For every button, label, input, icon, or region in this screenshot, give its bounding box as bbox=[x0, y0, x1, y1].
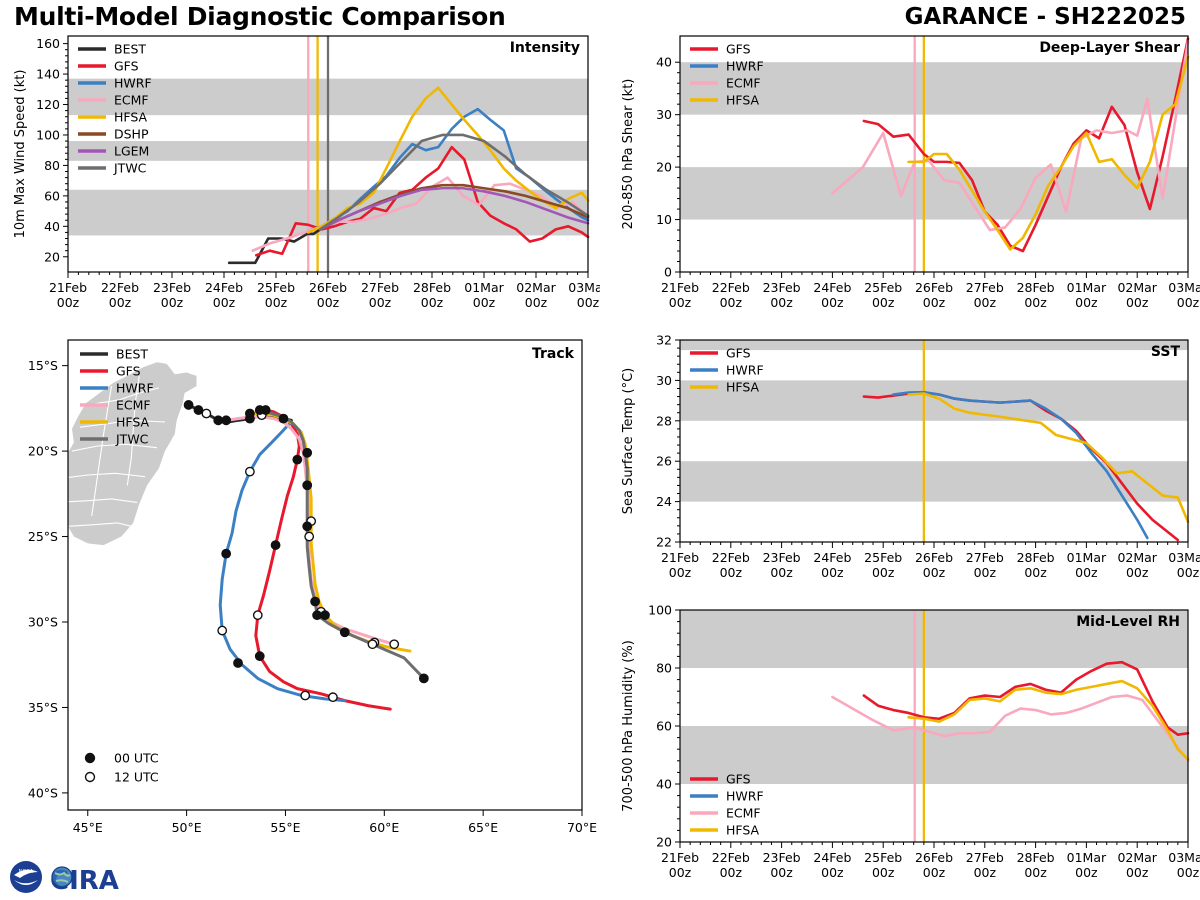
svg-text:00z: 00z bbox=[1024, 865, 1047, 880]
svg-text:24: 24 bbox=[656, 494, 672, 509]
svg-text:00z: 00z bbox=[821, 565, 844, 580]
svg-text:00z: 00z bbox=[770, 565, 793, 580]
svg-text:25°S: 25°S bbox=[28, 529, 58, 544]
svg-text:30: 30 bbox=[656, 107, 672, 122]
svg-text:24Feb: 24Feb bbox=[813, 280, 851, 295]
svg-text:00z: 00z bbox=[669, 865, 692, 880]
svg-text:00z: 00z bbox=[720, 295, 743, 310]
svg-text:ECMF: ECMF bbox=[726, 806, 761, 821]
svg-text:00z: 00z bbox=[872, 865, 895, 880]
svg-text:Intensity: Intensity bbox=[510, 40, 580, 56]
svg-text:00z: 00z bbox=[109, 295, 132, 310]
svg-text:HFSA: HFSA bbox=[726, 380, 760, 395]
svg-text:700-500 hPa Humidity (%): 700-500 hPa Humidity (%) bbox=[621, 640, 636, 812]
svg-text:20: 20 bbox=[44, 249, 60, 264]
svg-text:160: 160 bbox=[36, 36, 60, 51]
svg-text:00z: 00z bbox=[974, 565, 997, 580]
svg-text:01Mar: 01Mar bbox=[1067, 550, 1107, 565]
svg-text:20: 20 bbox=[656, 160, 672, 175]
svg-text:02Mar: 02Mar bbox=[516, 280, 556, 295]
svg-text:00z: 00z bbox=[161, 295, 184, 310]
svg-text:22: 22 bbox=[656, 535, 672, 550]
svg-text:50°E: 50°E bbox=[172, 820, 202, 835]
svg-text:02Mar: 02Mar bbox=[1117, 550, 1157, 565]
svg-text:21Feb: 21Feb bbox=[49, 280, 87, 295]
panel-sst: 22242628303221Feb00z22Feb00z23Feb00z24Fe… bbox=[600, 330, 1200, 600]
svg-text:20: 20 bbox=[656, 835, 672, 850]
svg-text:26Feb: 26Feb bbox=[309, 280, 347, 295]
svg-text:00z: 00z bbox=[669, 565, 692, 580]
svg-text:00 UTC: 00 UTC bbox=[114, 751, 159, 766]
svg-text:22Feb: 22Feb bbox=[712, 280, 750, 295]
svg-text:Mid-Level RH: Mid-Level RH bbox=[1076, 614, 1180, 630]
svg-text:00z: 00z bbox=[720, 865, 743, 880]
svg-text:00z: 00z bbox=[1075, 865, 1098, 880]
svg-text:01Mar: 01Mar bbox=[1067, 850, 1107, 865]
svg-text:00z: 00z bbox=[770, 865, 793, 880]
svg-text:03Mar: 03Mar bbox=[1168, 550, 1200, 565]
svg-text:GFS: GFS bbox=[726, 346, 751, 361]
svg-text:03Mar: 03Mar bbox=[1168, 280, 1200, 295]
svg-text:JTWC: JTWC bbox=[113, 161, 147, 176]
svg-text:03Mar: 03Mar bbox=[1168, 850, 1200, 865]
svg-text:Sea Surface Temp (°C): Sea Surface Temp (°C) bbox=[621, 368, 636, 515]
svg-text:02Mar: 02Mar bbox=[1117, 850, 1157, 865]
svg-text:ECMF: ECMF bbox=[114, 93, 149, 108]
svg-text:00z: 00z bbox=[1177, 565, 1200, 580]
svg-text:00z: 00z bbox=[525, 295, 548, 310]
svg-text:120: 120 bbox=[36, 97, 60, 112]
svg-text:00z: 00z bbox=[923, 565, 946, 580]
svg-text:23Feb: 23Feb bbox=[763, 280, 801, 295]
svg-text:140: 140 bbox=[36, 67, 60, 82]
svg-text:JTWC: JTWC bbox=[115, 432, 149, 447]
svg-text:10: 10 bbox=[656, 212, 672, 227]
svg-text:24Feb: 24Feb bbox=[205, 280, 243, 295]
svg-text:00z: 00z bbox=[1075, 295, 1098, 310]
svg-text:HWRF: HWRF bbox=[116, 381, 154, 396]
svg-text:00z: 00z bbox=[1126, 295, 1149, 310]
svg-text:00z: 00z bbox=[473, 295, 496, 310]
svg-text:00z: 00z bbox=[872, 295, 895, 310]
svg-text:27Feb: 27Feb bbox=[966, 850, 1004, 865]
svg-text:00z: 00z bbox=[974, 295, 997, 310]
svg-text:SST: SST bbox=[1151, 344, 1181, 360]
svg-text:HWRF: HWRF bbox=[726, 363, 764, 378]
svg-text:26Feb: 26Feb bbox=[915, 280, 953, 295]
svg-text:DSHP: DSHP bbox=[114, 127, 149, 142]
svg-text:60°E: 60°E bbox=[369, 820, 399, 835]
svg-text:20°S: 20°S bbox=[28, 444, 58, 459]
svg-text:00z: 00z bbox=[421, 295, 444, 310]
svg-text:22Feb: 22Feb bbox=[101, 280, 139, 295]
svg-text:00z: 00z bbox=[1126, 865, 1149, 880]
svg-text:HFSA: HFSA bbox=[726, 823, 760, 838]
svg-text:27Feb: 27Feb bbox=[966, 550, 1004, 565]
svg-text:55°E: 55°E bbox=[270, 820, 300, 835]
svg-text:26Feb: 26Feb bbox=[915, 550, 953, 565]
svg-text:12 UTC: 12 UTC bbox=[114, 770, 159, 785]
svg-text:00z: 00z bbox=[872, 565, 895, 580]
panel-intensity: 2040608010012014016021Feb00z22Feb00z23Fe… bbox=[0, 26, 600, 330]
svg-text:28: 28 bbox=[656, 413, 672, 428]
svg-text:01Mar: 01Mar bbox=[1067, 280, 1107, 295]
svg-text:25Feb: 25Feb bbox=[864, 850, 902, 865]
svg-text:28Feb: 28Feb bbox=[1017, 550, 1055, 565]
svg-text:23Feb: 23Feb bbox=[153, 280, 191, 295]
svg-text:Track: Track bbox=[532, 346, 575, 362]
svg-text:00z: 00z bbox=[1024, 295, 1047, 310]
svg-text:00z: 00z bbox=[974, 865, 997, 880]
svg-text:21Feb: 21Feb bbox=[661, 850, 699, 865]
svg-text:23Feb: 23Feb bbox=[763, 850, 801, 865]
svg-text:03Mar: 03Mar bbox=[568, 280, 600, 295]
svg-text:GFS: GFS bbox=[726, 42, 751, 57]
svg-text:NOAA: NOAA bbox=[19, 869, 34, 875]
svg-text:LGEM: LGEM bbox=[114, 144, 149, 159]
svg-text:10m Max Wind Speed (kt): 10m Max Wind Speed (kt) bbox=[13, 70, 28, 239]
svg-text:BEST: BEST bbox=[114, 42, 146, 57]
svg-text:00z: 00z bbox=[1177, 295, 1200, 310]
svg-text:GFS: GFS bbox=[116, 364, 141, 379]
svg-text:40°S: 40°S bbox=[28, 785, 58, 800]
svg-text:00z: 00z bbox=[213, 295, 236, 310]
svg-text:40: 40 bbox=[44, 219, 60, 234]
svg-text:00z: 00z bbox=[720, 565, 743, 580]
svg-text:26: 26 bbox=[656, 454, 672, 469]
svg-text:32: 32 bbox=[656, 333, 672, 348]
noaa-cira-logo: NOAA CIRA bbox=[6, 856, 146, 898]
svg-text:HWRF: HWRF bbox=[726, 789, 764, 804]
svg-text:ECMF: ECMF bbox=[116, 398, 151, 413]
svg-text:25Feb: 25Feb bbox=[864, 550, 902, 565]
svg-text:100: 100 bbox=[648, 603, 672, 618]
svg-text:BEST: BEST bbox=[116, 347, 148, 362]
svg-text:80: 80 bbox=[656, 661, 672, 676]
svg-text:00z: 00z bbox=[1126, 565, 1149, 580]
svg-text:40: 40 bbox=[656, 55, 672, 70]
svg-text:HFSA: HFSA bbox=[114, 110, 148, 125]
svg-text:21Feb: 21Feb bbox=[661, 280, 699, 295]
svg-text:30°S: 30°S bbox=[28, 615, 58, 630]
svg-text:60: 60 bbox=[656, 719, 672, 734]
svg-text:45°E: 45°E bbox=[73, 820, 103, 835]
svg-text:23Feb: 23Feb bbox=[763, 550, 801, 565]
svg-text:0: 0 bbox=[664, 265, 672, 280]
svg-text:21Feb: 21Feb bbox=[661, 550, 699, 565]
panel-track: 45°E50°E55°E60°E65°E70°E15°S20°S25°S30°S… bbox=[0, 330, 600, 870]
svg-text:00z: 00z bbox=[923, 865, 946, 880]
svg-text:00z: 00z bbox=[1177, 865, 1200, 880]
svg-text:GFS: GFS bbox=[114, 59, 139, 74]
svg-text:30: 30 bbox=[656, 373, 672, 388]
svg-text:28Feb: 28Feb bbox=[413, 280, 451, 295]
svg-text:200-850 hPa Shear (kt): 200-850 hPa Shear (kt) bbox=[621, 79, 636, 230]
svg-text:00z: 00z bbox=[369, 295, 392, 310]
svg-text:28Feb: 28Feb bbox=[1017, 850, 1055, 865]
svg-text:00z: 00z bbox=[57, 295, 80, 310]
panel-rh: 2040608010021Feb00z22Feb00z23Feb00z24Feb… bbox=[600, 600, 1200, 900]
svg-text:HWRF: HWRF bbox=[114, 76, 152, 91]
svg-text:HFSA: HFSA bbox=[726, 93, 760, 108]
svg-text:00z: 00z bbox=[669, 295, 692, 310]
svg-text:00z: 00z bbox=[1024, 565, 1047, 580]
svg-text:00z: 00z bbox=[577, 295, 600, 310]
svg-text:00z: 00z bbox=[265, 295, 288, 310]
svg-text:35°S: 35°S bbox=[28, 700, 58, 715]
svg-text:70°E: 70°E bbox=[567, 820, 597, 835]
svg-text:Deep-Layer Shear: Deep-Layer Shear bbox=[1039, 40, 1180, 56]
svg-text:40: 40 bbox=[656, 777, 672, 792]
svg-text:60: 60 bbox=[44, 188, 60, 203]
svg-text:24Feb: 24Feb bbox=[813, 550, 851, 565]
svg-text:65°E: 65°E bbox=[468, 820, 498, 835]
svg-text:28Feb: 28Feb bbox=[1017, 280, 1055, 295]
svg-text:00z: 00z bbox=[923, 295, 946, 310]
svg-text:27Feb: 27Feb bbox=[361, 280, 399, 295]
svg-text:00z: 00z bbox=[770, 295, 793, 310]
svg-text:26Feb: 26Feb bbox=[915, 850, 953, 865]
svg-text:100: 100 bbox=[36, 127, 60, 142]
svg-text:02Mar: 02Mar bbox=[1117, 280, 1157, 295]
svg-text:00z: 00z bbox=[317, 295, 340, 310]
svg-text:01Mar: 01Mar bbox=[464, 280, 504, 295]
svg-text:24Feb: 24Feb bbox=[813, 850, 851, 865]
svg-text:22Feb: 22Feb bbox=[712, 550, 750, 565]
svg-text:25Feb: 25Feb bbox=[864, 280, 902, 295]
svg-text:00z: 00z bbox=[821, 865, 844, 880]
svg-text:GFS: GFS bbox=[726, 772, 751, 787]
svg-text:80: 80 bbox=[44, 158, 60, 173]
svg-text:25Feb: 25Feb bbox=[257, 280, 295, 295]
svg-text:ECMF: ECMF bbox=[726, 76, 761, 91]
svg-text:27Feb: 27Feb bbox=[966, 280, 1004, 295]
panel-shear: 01020304021Feb00z22Feb00z23Feb00z24Feb00… bbox=[600, 26, 1200, 330]
svg-text:15°S: 15°S bbox=[28, 358, 58, 373]
svg-text:00z: 00z bbox=[821, 295, 844, 310]
svg-text:HFSA: HFSA bbox=[116, 415, 150, 430]
svg-text:00z: 00z bbox=[1075, 565, 1098, 580]
svg-text:22Feb: 22Feb bbox=[712, 850, 750, 865]
svg-text:HWRF: HWRF bbox=[726, 59, 764, 74]
